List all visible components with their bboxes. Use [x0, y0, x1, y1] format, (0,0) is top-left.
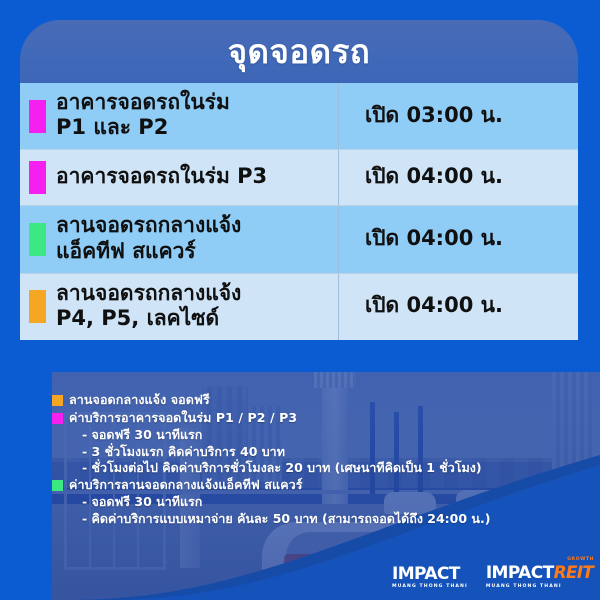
impact-reit-logo-growth: GROWTH — [567, 557, 594, 562]
row-name-line1: อาคารจอดรถในร่ม P3 — [56, 164, 267, 188]
row-opening-time: เปิด 04:00 น. — [365, 226, 503, 251]
legend-entry-aktiv-square-fees: ค่าบริการลานจอดกลางแจ้งแอ็คทีฟ สแควร์ - … — [52, 477, 572, 528]
row-name-line1: ลานจอดรถกลางแจ้ง — [56, 213, 241, 237]
impact-reit-logo-word: IMPACT — [486, 565, 554, 582]
legend-swatch-orange-icon — [52, 395, 63, 406]
legend-entry-outdoor-free: ลานจอดกลางแจ้ง จอดฟรี — [52, 392, 572, 409]
color-marker-icon — [29, 290, 46, 323]
legend-swatch-magenta-icon — [52, 413, 63, 424]
legend-bullet: - ชั่วโมงต่อไป คิดค่าบริการชั่วโมงละ 20 … — [82, 460, 572, 477]
poster-root: จุดจอดรถ อาคารจอดรถในร่ม P1 และ P2 เปิด … — [0, 0, 600, 600]
parking-table-card: จุดจอดรถ อาคารจอดรถในร่ม P1 และ P2 เปิด … — [20, 20, 578, 340]
impact-reit-logo-tagline: MUANG THONG THANI — [486, 585, 593, 590]
color-marker-icon — [29, 223, 46, 256]
row-name-line1: ลานจอดรถกลางแจ้ง — [56, 281, 241, 305]
parking-table: อาคารจอดรถในร่ม P1 และ P2 เปิด 03:00 น. … — [20, 83, 578, 340]
impact-logo-word: IMPACT — [392, 566, 468, 583]
legend: ลานจอดกลางแจ้ง จอดฟรี ค่าบริการอาคารจอดใ… — [52, 392, 572, 527]
legend-title: ลานจอดกลางแจ้ง จอดฟรี — [69, 392, 210, 409]
row-name-cell: ลานจอดรถกลางแจ้ง แอ็คทีฟ สแควร์ — [54, 206, 338, 272]
row-time-cell: เปิด 04:00 น. — [338, 150, 578, 205]
row-name-cell: อาคารจอดรถในร่ม P1 และ P2 — [54, 83, 338, 149]
row-time-cell: เปิด 04:00 น. — [338, 206, 578, 272]
legend-bullet: - 3 ชั่วโมงแรก คิดค่าบริการ 40 บาท — [82, 444, 572, 461]
row-marker-cell — [20, 150, 54, 205]
row-opening-time: เปิด 03:00 น. — [365, 103, 503, 128]
color-marker-icon — [29, 100, 46, 133]
impact-reit-logo-reit: REIT — [554, 563, 593, 583]
impact-reit-logo: IMPACT REIT GROWTH MUANG THONG THANI — [486, 563, 593, 590]
row-marker-cell — [20, 206, 54, 272]
table-row[interactable]: ลานจอดรถกลางแจ้ง P4, P5, เลคไซด์ เปิด 04… — [20, 274, 578, 340]
row-name-line2: P1 และ P2 — [56, 115, 230, 140]
row-marker-cell — [20, 274, 54, 340]
legend-title: ค่าบริการลานจอดกลางแจ้งแอ็คทีฟ สแควร์ — [69, 477, 303, 494]
card-header: จุดจอดรถ — [20, 20, 578, 83]
impact-logo-tagline: MUANG THONG THANI — [392, 585, 468, 590]
table-row[interactable]: ลานจอดรถกลางแจ้ง แอ็คทีฟ สแควร์ เปิด 04:… — [20, 206, 578, 272]
legend-swatch-green-icon — [52, 480, 63, 491]
impact-logo: IMPACT MUANG THONG THANI — [392, 566, 468, 590]
row-name-line2: แอ็คทีฟ สแควร์ — [56, 239, 241, 264]
row-opening-time: เปิด 04:00 น. — [365, 164, 503, 189]
row-name-cell: ลานจอดรถกลางแจ้ง P4, P5, เลคไซด์ — [54, 274, 338, 340]
row-name-cell: อาคารจอดรถในร่ม P3 — [54, 150, 338, 205]
color-marker-icon — [29, 161, 46, 194]
table-row[interactable]: อาคารจอดรถในร่ม P3 เปิด 04:00 น. — [20, 150, 578, 205]
legend-bullet: - คิดค่าบริการแบบเหมาจ่าย คันละ 50 บาท (… — [82, 511, 572, 528]
legend-bullet: - จอดฟรี 30 นาทีแรก — [82, 427, 572, 444]
legend-title: ค่าบริการอาคารจอดในร่ม P1 / P2 / P3 — [69, 410, 297, 427]
row-opening-time: เปิด 04:00 น. — [365, 293, 503, 318]
page-title: จุดจอดรถ — [228, 25, 371, 78]
row-name-line1: อาคารจอดรถในร่ม — [56, 90, 230, 114]
footer-logos: IMPACT MUANG THONG THANI IMPACT REIT GRO… — [392, 563, 593, 590]
row-time-cell: เปิด 03:00 น. — [338, 83, 578, 149]
legend-bullet: - จอดฟรี 30 นาทีแรก — [82, 494, 572, 511]
table-row[interactable]: อาคารจอดรถในร่ม P1 และ P2 เปิด 03:00 น. — [20, 83, 578, 149]
row-name-line2: P4, P5, เลคไซด์ — [56, 306, 241, 331]
row-time-cell: เปิด 04:00 น. — [338, 274, 578, 340]
legend-entry-indoor-fees: ค่าบริการอาคารจอดในร่ม P1 / P2 / P3 - จอ… — [52, 410, 572, 477]
row-marker-cell — [20, 83, 54, 149]
